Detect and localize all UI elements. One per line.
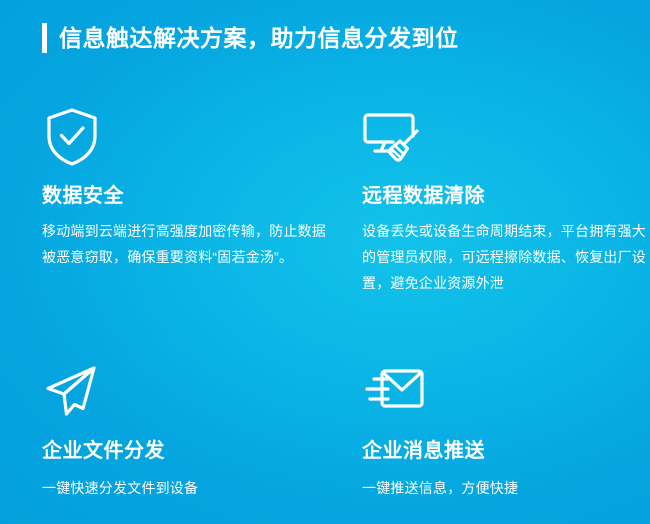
feature-card-message-push[interactable]: 企业消息推送 一键推送信息，方便快捷 xyxy=(362,363,650,501)
feature-title: 企业文件分发 xyxy=(42,439,342,463)
feature-title: 远程数据清除 xyxy=(362,184,650,208)
feature-title: 数据安全 xyxy=(42,184,342,208)
envelope-send-icon xyxy=(362,363,650,425)
page-title: 信息触达解决方案，助力信息分发到位 xyxy=(42,21,459,55)
feature-title: 企业消息推送 xyxy=(362,439,650,463)
monitor-broom-icon xyxy=(362,106,650,168)
paper-plane-icon xyxy=(42,363,342,425)
page-title-text: 信息触达解决方案，助力信息分发到位 xyxy=(59,23,459,53)
feature-card-data-security[interactable]: 数据安全 移动端到云端进行高强度加密传输，防止数据被恶意窃取，确保重要资料“固若… xyxy=(42,106,342,270)
feature-banner: 信息触达解决方案，助力信息分发到位 数据安全 移动端到云端进行高强度加密传输，防… xyxy=(0,0,650,524)
feature-description: 移动端到云端进行高强度加密传输，防止数据被恶意窃取，确保重要资料“固若金汤”。 xyxy=(42,218,338,270)
feature-description: 设备丢失或设备生命周期结束，平台拥有强大的管理员权限，可远程擦除数据、恢复出厂设… xyxy=(362,218,650,296)
feature-card-file-distribution[interactable]: 企业文件分发 一键快速分发文件到设备 xyxy=(42,363,342,501)
feature-description: 一键推送信息，方便快捷 xyxy=(362,475,650,501)
feature-card-remote-wipe[interactable]: 远程数据清除 设备丢失或设备生命周期结束，平台拥有强大的管理员权限，可远程擦除数… xyxy=(362,106,650,296)
shield-check-icon xyxy=(42,106,342,168)
title-accent-bar xyxy=(42,23,47,53)
feature-description: 一键快速分发文件到设备 xyxy=(42,475,338,501)
